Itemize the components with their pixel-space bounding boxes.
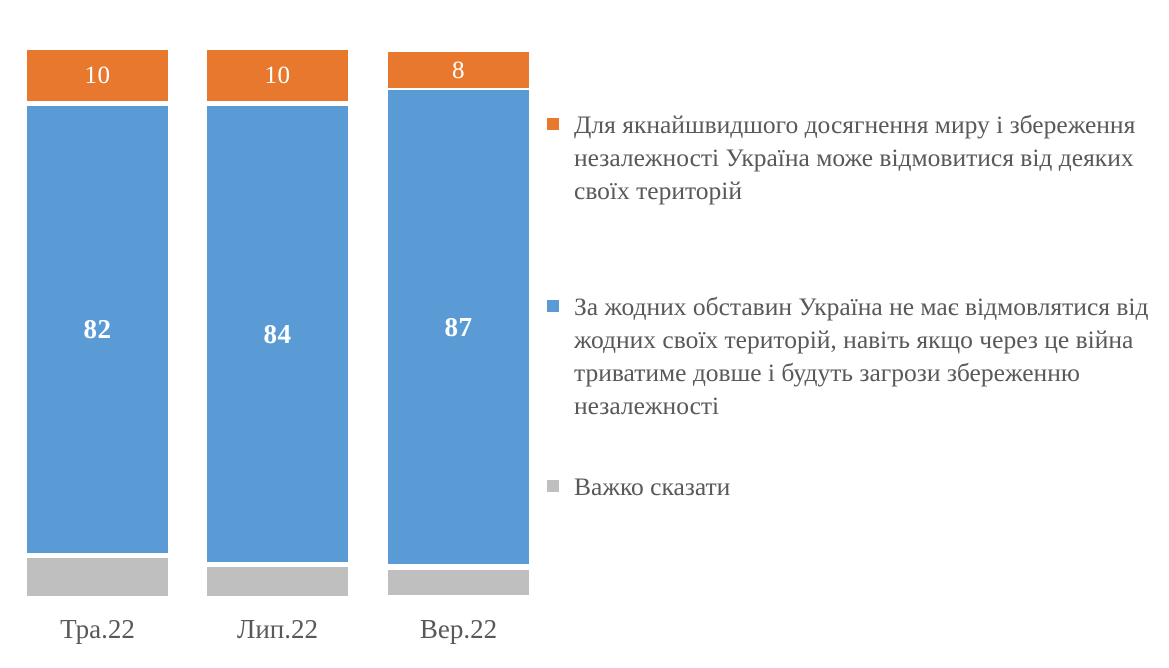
category-label-2: Лип.22 (207, 614, 348, 645)
chart-plot-area: 10 82 Тра.22 10 84 Лип.22 (0, 0, 560, 668)
legend-item-label-2: За жодних обставин Україна не має відмов… (574, 290, 1155, 422)
bar-segment-label-orange-1: 10 (85, 63, 111, 88)
legend-item-3[interactable]: Важко сказати (547, 470, 947, 503)
bar-segment-orange-3[interactable]: 8 (388, 52, 529, 88)
bar-segment-label-blue-1: 82 (84, 316, 112, 343)
gray-square-icon (547, 480, 559, 492)
bar-segment-blue-2[interactable]: 84 (207, 106, 348, 562)
legend-item-1[interactable]: Для якнайшвидшого досягнення миру і збер… (547, 108, 1147, 207)
stacked-column-2: 10 84 (207, 0, 348, 668)
bar-segment-blue-1[interactable]: 82 (27, 106, 168, 553)
orange-square-icon (547, 118, 559, 130)
chart-legend: Для якнайшвидшого досягнення миру і збер… (540, 0, 1169, 668)
bar-segment-blue-3[interactable]: 87 (388, 90, 529, 564)
bar-segment-label-blue-2: 84 (264, 321, 292, 348)
category-label-1: Тра.22 (27, 614, 168, 645)
stacked-column-1: 10 82 (27, 0, 168, 668)
legend-item-label-1: Для якнайшвидшого досягнення миру і збер… (574, 108, 1147, 207)
bar-segment-gray-1[interactable] (27, 558, 168, 596)
legend-item-label-3: Важко сказати (574, 470, 947, 503)
bar-segment-gray-3[interactable] (388, 570, 529, 595)
bar-segment-label-blue-3: 87 (445, 314, 473, 341)
stacked-column-3: 8 87 (388, 0, 529, 668)
bar-segment-orange-1[interactable]: 10 (27, 50, 168, 101)
legend-item-2[interactable]: За жодних обставин Україна не має відмов… (547, 290, 1155, 422)
bar-segment-label-orange-2: 10 (265, 63, 291, 88)
bar-segment-orange-2[interactable]: 10 (207, 50, 348, 101)
category-label-3: Вер.22 (388, 614, 529, 645)
bar-segment-label-orange-3: 8 (452, 58, 465, 83)
bar-segment-gray-2[interactable] (207, 567, 348, 596)
blue-square-icon (547, 300, 559, 312)
